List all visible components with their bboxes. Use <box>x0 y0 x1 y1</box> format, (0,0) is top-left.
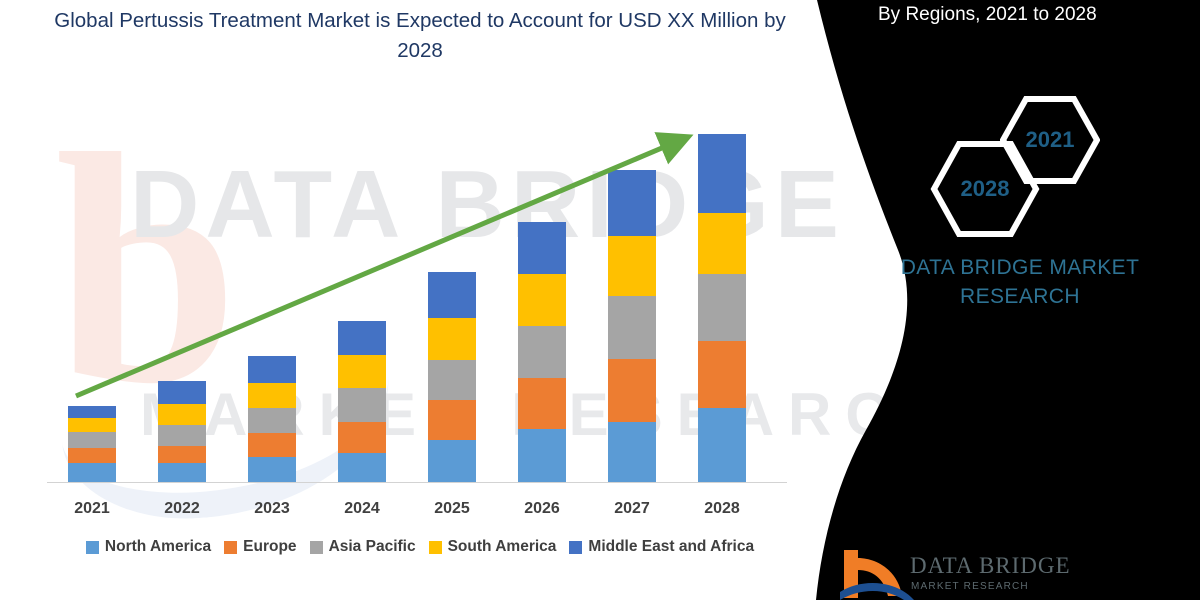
bar-segment-2026-asia-pacific <box>518 326 566 378</box>
bar-segment-2028-middle-east-and-africa <box>698 134 746 213</box>
bar-segment-2023-middle-east-and-africa <box>248 356 296 383</box>
x-tick-2026: 2026 <box>497 500 587 518</box>
bar-segment-2025-middle-east-and-africa <box>428 272 476 318</box>
bar-2028 <box>698 134 746 482</box>
bar-segment-2025-asia-pacific <box>428 360 476 400</box>
chart-plot-area: 20212022202320242025202620272028 <box>0 0 800 600</box>
logo-wordmark: DATA BRIDGE <box>910 553 1071 579</box>
bar-segment-2022-middle-east-and-africa <box>158 381 206 404</box>
legend-label: Middle East and Africa <box>588 538 754 556</box>
bar-2026 <box>518 222 566 482</box>
bar-2021 <box>68 406 116 482</box>
bar-segment-2022-north-america <box>158 463 206 482</box>
bar-segment-2024-middle-east-and-africa <box>338 321 386 355</box>
x-tick-2027: 2027 <box>587 500 677 518</box>
bar-segment-2027-asia-pacific <box>608 296 656 359</box>
bar-segment-2021-middle-east-and-africa <box>68 406 116 418</box>
company-logo: DATA BRIDGE MARKET RESEARCH <box>838 548 1138 600</box>
bar-segment-2022-south-america <box>158 404 206 425</box>
bar-segment-2026-europe <box>518 378 566 430</box>
legend-swatch-icon <box>569 541 582 554</box>
bar-segment-2027-south-america <box>608 236 656 296</box>
bar-2023 <box>248 356 296 482</box>
x-axis-line <box>47 482 787 483</box>
bar-segment-2024-north-america <box>338 453 386 482</box>
x-tick-2025: 2025 <box>407 500 497 518</box>
panel-title: By Regions, 2021 to 2028 <box>878 4 1097 26</box>
legend-swatch-icon <box>310 541 323 554</box>
x-tick-2024: 2024 <box>317 500 407 518</box>
hex-badge-2028: 2028 <box>930 140 1040 238</box>
bar-segment-2028-europe <box>698 341 746 408</box>
bar-segment-2021-asia-pacific <box>68 432 116 449</box>
x-tick-2022: 2022 <box>137 500 227 518</box>
legend-item-europe[interactable]: Europe <box>224 538 296 556</box>
bar-segment-2023-south-america <box>248 383 296 408</box>
x-tick-2021: 2021 <box>47 500 137 518</box>
bar-segment-2027-middle-east-and-africa <box>608 170 656 236</box>
growth-arrow-icon <box>0 0 800 500</box>
infographic-canvas: b DATA BRIDGE MARKET RESEARCH 2021202220… <box>0 0 1200 600</box>
brand-name-line1: DATA BRIDGE MARKET <box>855 256 1185 280</box>
hex-badge-2028-label: 2028 <box>930 140 1040 238</box>
page-title: Global Pertussis Treatment Market is Exp… <box>40 6 800 66</box>
logo-tagline: MARKET RESEARCH <box>911 581 1029 592</box>
bar-segment-2024-asia-pacific <box>338 388 386 422</box>
bar-segment-2023-asia-pacific <box>248 408 296 432</box>
x-tick-2023: 2023 <box>227 500 317 518</box>
bar-segment-2025-north-america <box>428 440 476 482</box>
legend-label: North America <box>105 538 211 556</box>
bar-segment-2028-south-america <box>698 213 746 274</box>
legend-label: Europe <box>243 538 296 556</box>
bar-segment-2022-europe <box>158 446 206 463</box>
bar-2027 <box>608 170 656 482</box>
legend-item-north-america[interactable]: North America <box>86 538 211 556</box>
legend-item-middle-east-and-africa[interactable]: Middle East and Africa <box>569 538 754 556</box>
bar-segment-2021-north-america <box>68 463 116 482</box>
legend-swatch-icon <box>429 541 442 554</box>
bar-2024 <box>338 321 386 482</box>
bar-segment-2024-europe <box>338 422 386 452</box>
legend-swatch-icon <box>86 541 99 554</box>
bar-segment-2024-south-america <box>338 355 386 389</box>
bar-2025 <box>428 272 476 482</box>
legend-label: South America <box>448 538 557 556</box>
bar-2022 <box>158 381 206 482</box>
bar-segment-2026-north-america <box>518 429 566 482</box>
bar-segment-2026-middle-east-and-africa <box>518 222 566 274</box>
bar-segment-2023-north-america <box>248 457 296 482</box>
bar-segment-2022-asia-pacific <box>158 425 206 446</box>
legend-item-south-america[interactable]: South America <box>429 538 557 556</box>
legend-label: Asia Pacific <box>329 538 416 556</box>
legend-item-asia-pacific[interactable]: Asia Pacific <box>310 538 416 556</box>
bar-segment-2027-north-america <box>608 422 656 482</box>
bar-segment-2025-europe <box>428 400 476 440</box>
x-tick-2028: 2028 <box>677 500 767 518</box>
bar-segment-2028-north-america <box>698 408 746 482</box>
bar-segment-2021-south-america <box>68 418 116 432</box>
legend-swatch-icon <box>224 541 237 554</box>
chart-legend: North AmericaEuropeAsia PacificSouth Ame… <box>40 538 800 556</box>
bar-segment-2023-europe <box>248 433 296 457</box>
bar-segment-2027-europe <box>608 359 656 422</box>
bar-segment-2026-south-america <box>518 274 566 327</box>
bar-segment-2028-asia-pacific <box>698 274 746 341</box>
bar-segment-2025-south-america <box>428 318 476 360</box>
brand-name-line2: RESEARCH <box>855 285 1185 309</box>
bar-segment-2021-europe <box>68 448 116 463</box>
